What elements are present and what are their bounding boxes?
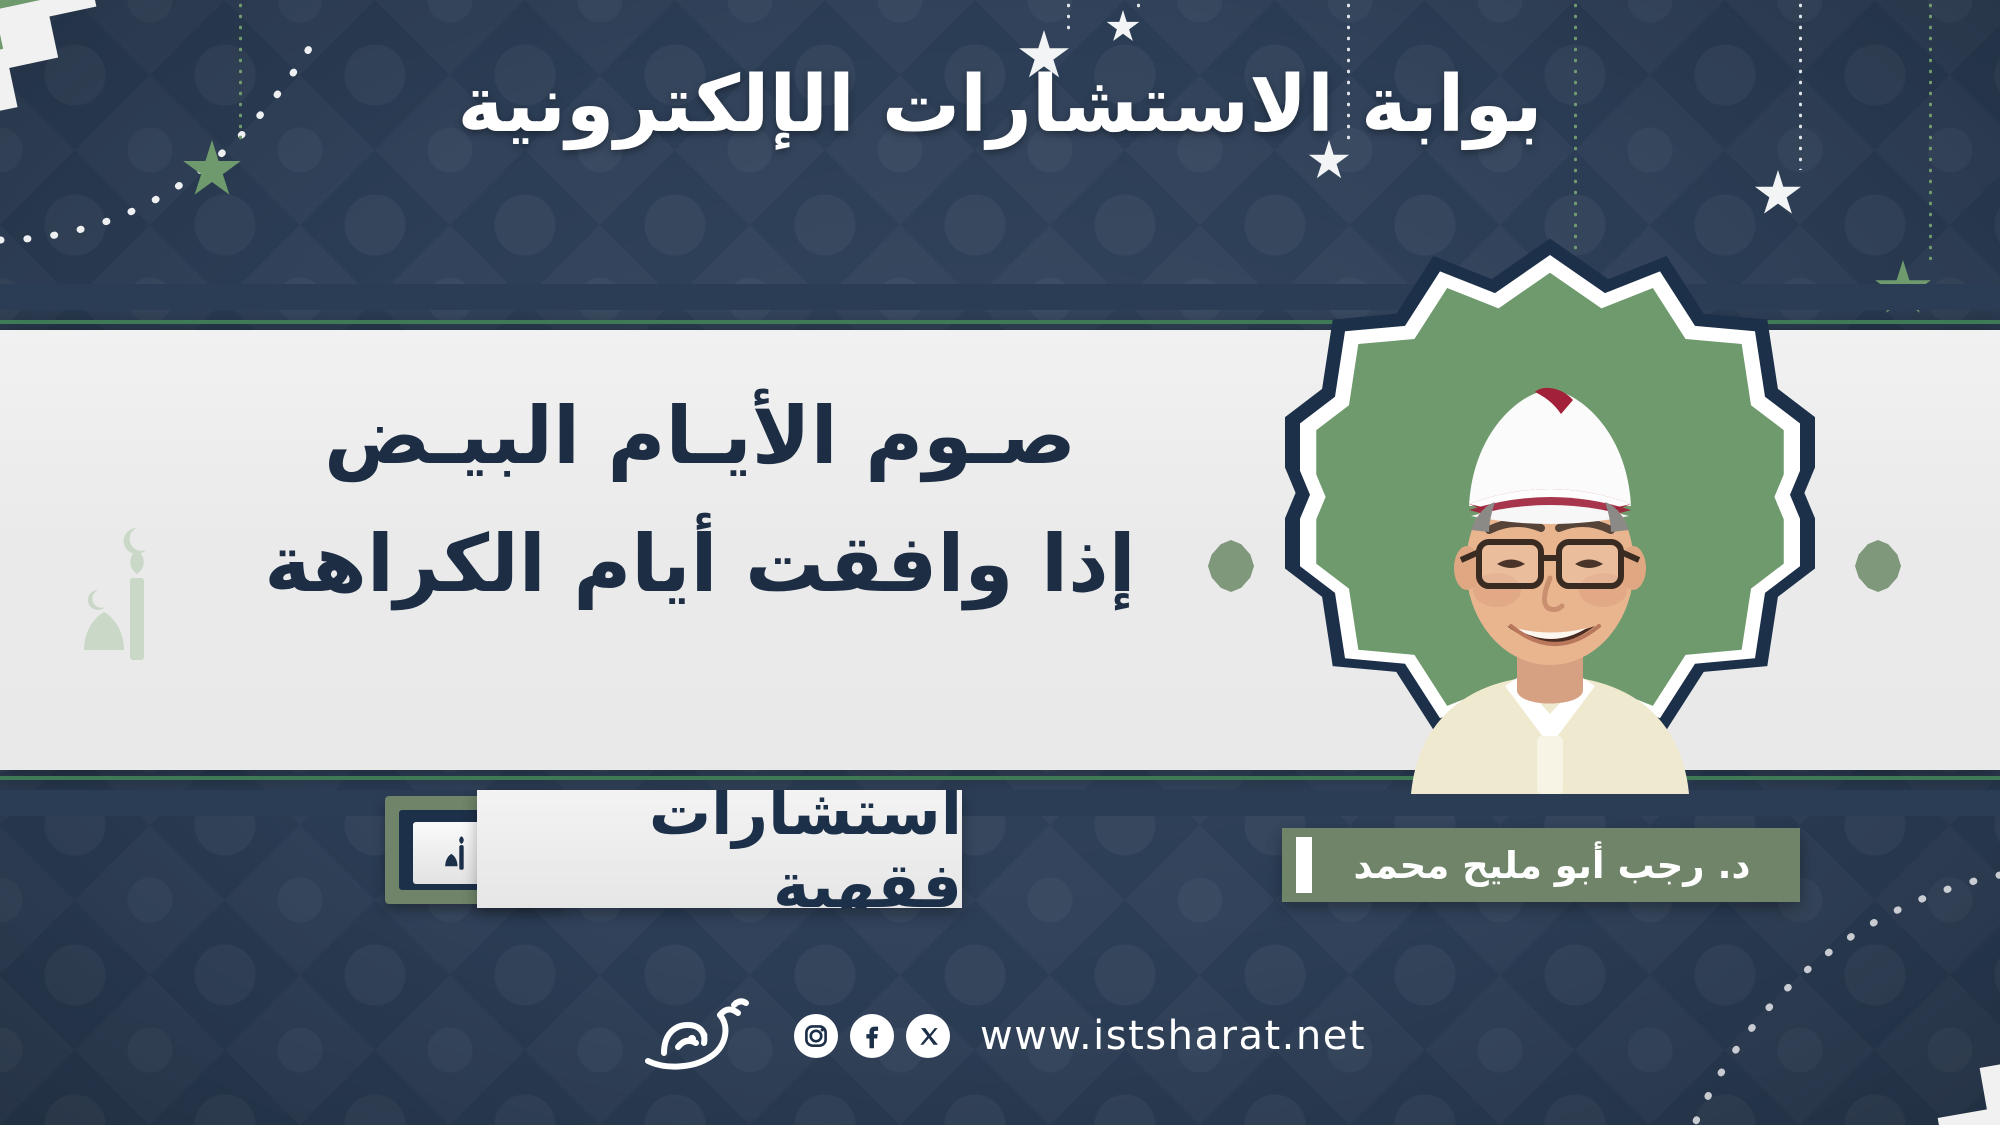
header-calligraphy-text: بوابة الاستشارات الإلكترونية [457, 60, 1542, 150]
instagram-icon[interactable] [794, 1014, 838, 1058]
speaker-name: د. رجب أبو مليح محمد [1332, 844, 1751, 887]
headline-line-2: إذا وافقت أيام الكراهة [250, 508, 1150, 620]
badge-category-text: استشارات فقهية [477, 790, 962, 908]
speaker-photo [1385, 354, 1715, 794]
star-string [1067, 0, 1070, 30]
website-url[interactable]: www.istsharat.net [980, 1013, 1366, 1059]
headline-line-1: صـوم الأيـام البيـض [250, 380, 1150, 492]
badge-label-panel: استشارات فقهية [477, 790, 962, 908]
footer: www.istsharat.net [0, 981, 2000, 1091]
banner-canvas: بوابة الاستشارات الإلكترونية صـوم الأيـا… [0, 0, 2000, 1125]
category-badge: استشارات فقهية [385, 790, 970, 910]
nameplate-accent-bar [1296, 837, 1312, 893]
speaker-nameplate: د. رجب أبو مليح محمد [1282, 828, 1800, 902]
facebook-icon[interactable] [850, 1014, 894, 1058]
headline: صـوم الأيـام البيـض إذا وافقت أيام الكرا… [250, 380, 1150, 620]
mosque-crescent-watermark-icon [34, 520, 184, 680]
x-twitter-icon[interactable] [906, 1014, 950, 1058]
hanging-star-5 [1930, 0, 1932, 318]
header-calligraphy: بوابة الاستشارات الإلكترونية [0, 60, 2000, 150]
star-string [1137, 0, 1140, 10]
speaker-portrait [1300, 255, 1800, 800]
social-links [794, 1014, 950, 1058]
hanging-star-7 [1138, 0, 1140, 44]
almujtama-logo [634, 991, 764, 1081]
